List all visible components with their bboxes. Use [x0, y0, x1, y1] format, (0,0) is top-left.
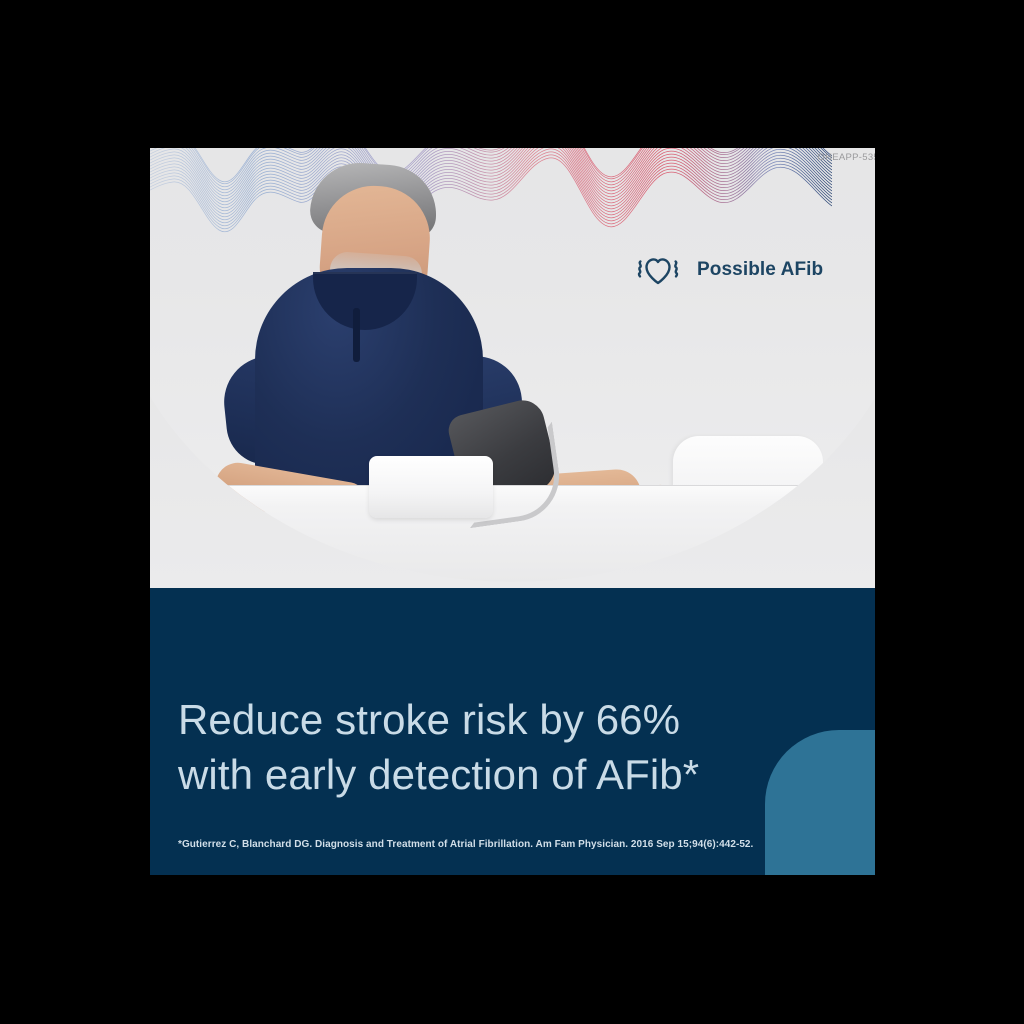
shirt-collar [313, 272, 417, 330]
patient-photo [150, 148, 875, 582]
possible-afib-label: Possible AFib [697, 259, 823, 281]
shirt-placket [353, 308, 360, 362]
screenshot-canvas: Possible AFib OHEAPP-535 Reduce stroke r… [0, 0, 1024, 1024]
blood-pressure-monitor [369, 456, 493, 518]
arch-mask [150, 148, 875, 582]
headline: Reduce stroke risk by 66% with early det… [178, 693, 778, 802]
heart-afib-icon [635, 252, 681, 288]
possible-afib-badge: Possible AFib [635, 252, 823, 288]
photo-region: Possible AFib OHEAPP-535 [150, 148, 875, 588]
corner-code: OHEAPP-535 [817, 152, 875, 163]
footnote-citation: *Gutierrez C, Blanchard DG. Diagnosis an… [178, 838, 818, 852]
accent-shape [765, 730, 875, 875]
headline-line-2: with early detection of AFib* [178, 748, 778, 803]
afib-awareness-poster: Possible AFib OHEAPP-535 Reduce stroke r… [150, 148, 875, 875]
headline-line-1: Reduce stroke risk by 66% [178, 693, 778, 748]
